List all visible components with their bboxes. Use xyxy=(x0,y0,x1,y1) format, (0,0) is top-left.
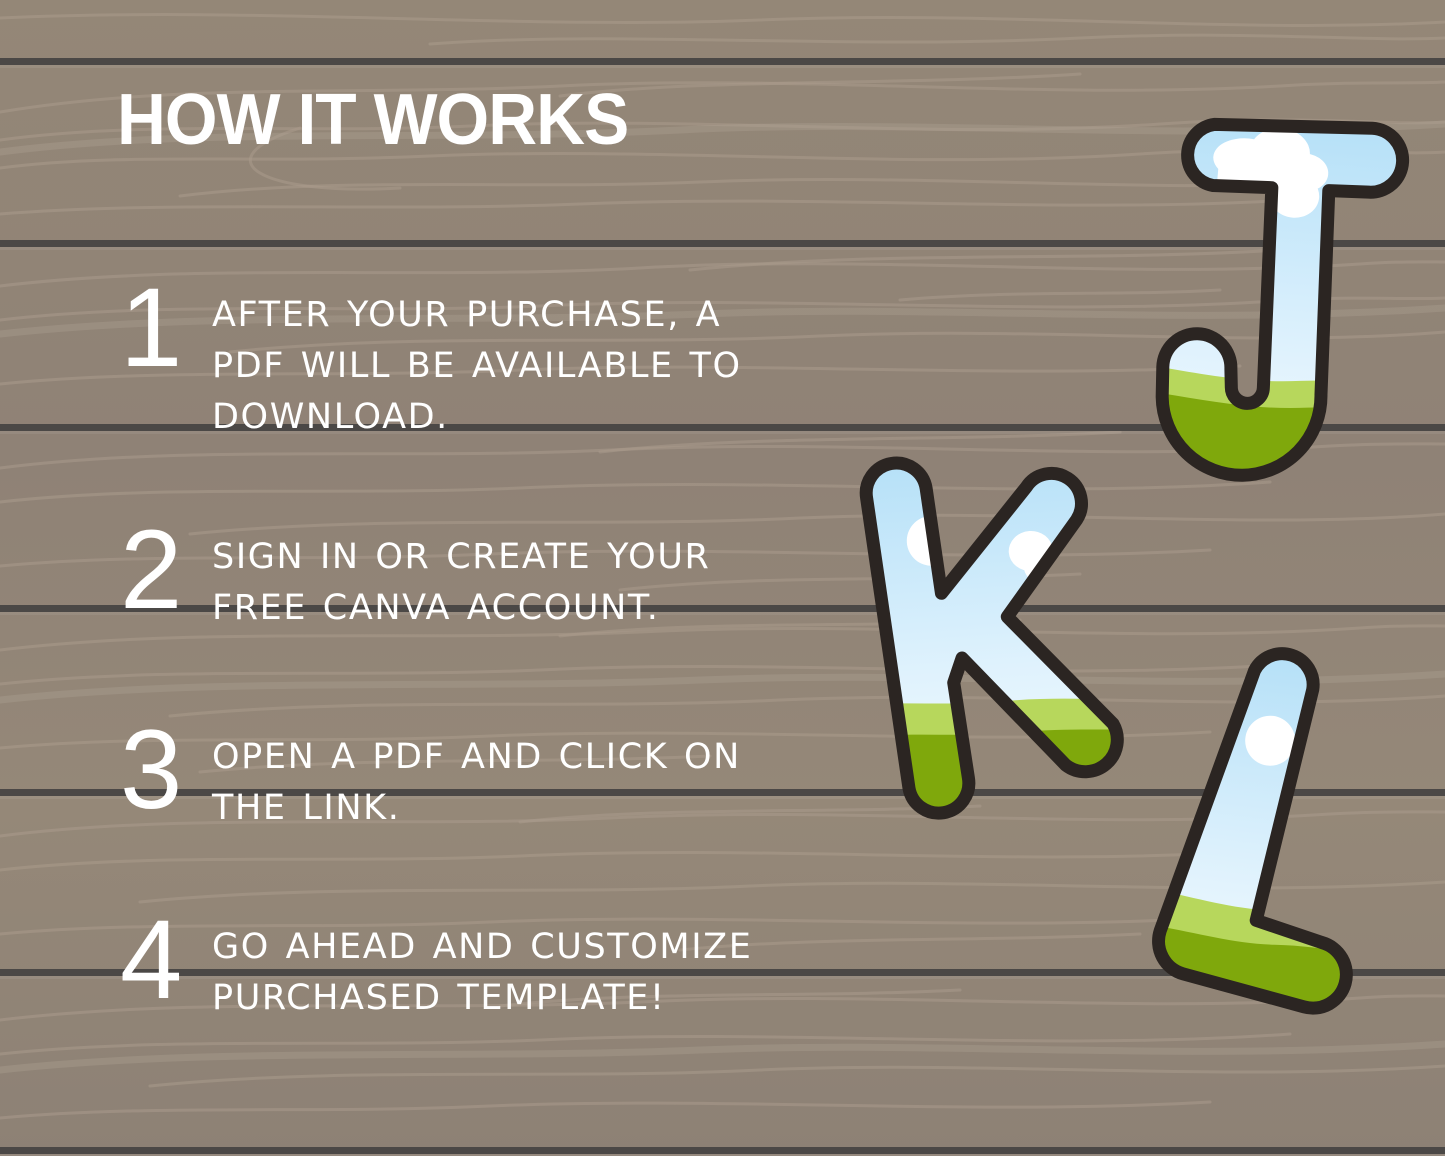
letter-j-landscape xyxy=(1108,88,1388,488)
step-text: GO AHEAD AND CUSTOMIZE PURCHASED TEMPLAT… xyxy=(212,908,782,1024)
letter-k-landscape xyxy=(840,432,1140,824)
page-title: HOW IT WORKS xyxy=(117,84,628,156)
step-number: 3 xyxy=(112,718,212,821)
step-text: SIGN IN OR CREATE YOUR FREE CANVA ACCOUN… xyxy=(212,518,742,634)
letter-l-landscape xyxy=(1142,628,1374,1052)
step-item-2: 2 SIGN IN OR CREATE YOUR FREE CANVA ACCO… xyxy=(112,518,742,634)
step-number: 4 xyxy=(112,908,212,1011)
step-text: OPEN A PDF AND CLICK ON THE LINK. xyxy=(212,718,772,834)
step-item-4: 4 GO AHEAD AND CUSTOMIZE PURCHASED TEMPL… xyxy=(112,908,782,1024)
plank-divider xyxy=(0,1147,1445,1154)
step-item-1: 1 AFTER YOUR PURCHASE, A PDF WILL BE AVA… xyxy=(112,276,782,443)
plank-divider xyxy=(0,58,1445,65)
poster-canvas: HOW IT WORKS 1 AFTER YOUR PURCHASE, A PD… xyxy=(0,0,1445,1156)
step-text: AFTER YOUR PURCHASE, A PDF WILL BE AVAIL… xyxy=(212,276,782,443)
step-number: 2 xyxy=(112,518,212,621)
step-item-3: 3 OPEN A PDF AND CLICK ON THE LINK. xyxy=(112,718,772,834)
step-number: 1 xyxy=(112,276,212,379)
